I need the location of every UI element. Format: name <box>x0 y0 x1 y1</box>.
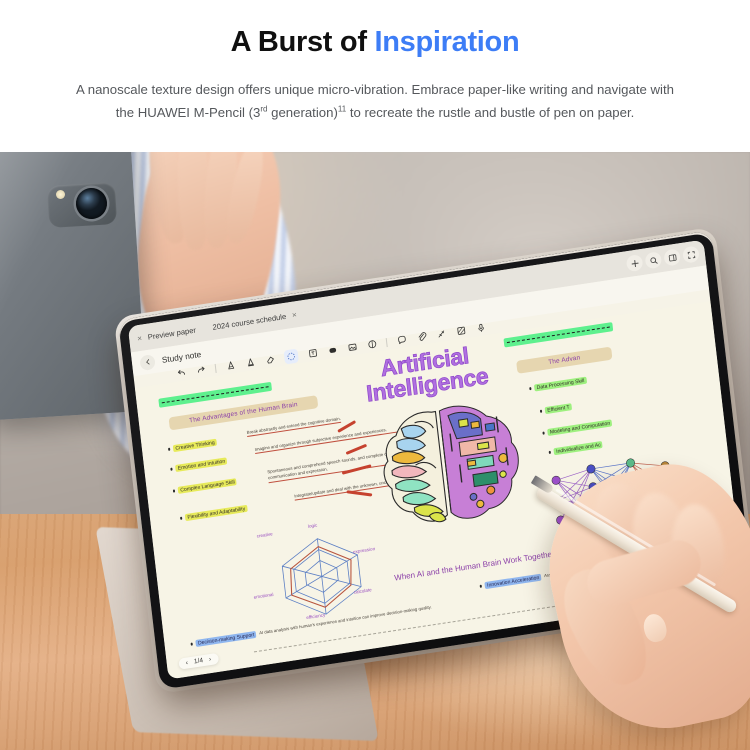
search-icon[interactable] <box>645 251 663 269</box>
bullet-dot <box>549 451 552 454</box>
attachment-icon[interactable] <box>415 331 427 344</box>
bullet-dot <box>168 448 171 451</box>
redo-icon[interactable] <box>195 364 207 377</box>
bullet-label: Emotion and Intuition <box>175 457 227 472</box>
bullet-label: Decision-making Support <box>196 631 257 647</box>
text-box-icon[interactable] <box>306 347 318 360</box>
bullet-dot <box>529 387 532 390</box>
laser-pointer-icon[interactable] <box>435 328 447 341</box>
list-item: Emotion and Intuition <box>170 457 227 473</box>
headline-plain: A Burst of <box>231 26 375 58</box>
bullet-dot <box>170 468 173 471</box>
close-icon[interactable]: × <box>291 310 297 320</box>
connector-arrow <box>346 490 372 496</box>
bullet-label: Innovation Acceleration <box>485 574 542 590</box>
bullet-label: Individualize and Ac <box>554 441 603 455</box>
lasso-select-icon[interactable] <box>284 349 299 365</box>
connector-arrow <box>346 444 367 455</box>
highlighter-icon[interactable] <box>244 356 256 369</box>
bullet-dot <box>191 643 194 646</box>
page-next-button[interactable]: › <box>209 656 212 663</box>
bullet-dot <box>480 585 483 588</box>
list-item: Efficient T <box>540 403 572 415</box>
toolbar-divider <box>386 338 388 347</box>
page-number: 1/4 <box>194 657 204 665</box>
page-template-icon[interactable] <box>455 325 467 338</box>
bullet-dot <box>173 490 176 493</box>
fullscreen-icon[interactable] <box>682 245 700 263</box>
split-screen-icon[interactable] <box>663 248 681 266</box>
bullet-label: Flexibility and Adaptability <box>185 505 247 521</box>
pen-icon[interactable] <box>224 359 236 372</box>
add-tab-icon[interactable] <box>626 254 644 272</box>
list-item: Data Processing Skill <box>529 377 587 393</box>
bullet-note: Break abstractly and extend the cognitiv… <box>246 416 341 438</box>
product-photo: × Preview paper 2024 course schedule × <box>0 152 750 750</box>
microphone-icon[interactable] <box>475 322 487 335</box>
list-item: Flexibility and Adaptability <box>180 505 248 522</box>
subcopy-line-1: A nanoscale texture design offers unique… <box>76 82 674 97</box>
bullet-dot <box>540 410 543 413</box>
bullet-dot <box>542 432 545 435</box>
list-item: Individualize and Ac <box>548 441 603 456</box>
list-item: Creative Thinking <box>168 439 217 453</box>
undo-icon[interactable] <box>175 367 187 380</box>
eraser-icon[interactable] <box>264 353 276 366</box>
sticker-icon[interactable] <box>366 338 378 351</box>
marketing-header: A Burst of Inspiration A nanoscale textu… <box>0 0 750 152</box>
bullet-dot <box>180 517 183 520</box>
page-indicator[interactable]: ‹ 1/4 › <box>178 653 218 670</box>
footnote-superscript: 11 <box>338 104 346 113</box>
section-header-right: The Advan <box>516 347 612 374</box>
bullet-label: Complex Language Skill <box>178 478 237 494</box>
shape-fill-icon[interactable] <box>326 344 338 357</box>
subcopy-line-2b: generation) <box>267 105 337 120</box>
brain-illustration <box>369 389 532 543</box>
page-prev-button[interactable]: ‹ <box>185 659 188 666</box>
list-item: Modeling and Computation <box>542 419 612 437</box>
subcopy-line-2a: the HUAWEI M-Pencil (3 <box>116 105 261 120</box>
tab-label: 2024 course schedule <box>212 311 287 331</box>
subcopy-line-2c: to recreate the rustle and bustle of pen… <box>346 105 634 120</box>
close-icon[interactable]: × <box>137 333 143 343</box>
page-subcopy: A nanoscale texture design offers unique… <box>30 79 720 124</box>
bullet-label: Modeling and Computation <box>548 419 613 436</box>
tab-label: Preview paper <box>147 325 196 341</box>
radar-label-logic: logic <box>308 523 318 529</box>
list-item: Complex Language Skill <box>173 478 237 495</box>
headline-accent: Inspiration <box>374 26 519 58</box>
bullet-label: Efficient T <box>545 403 572 414</box>
page-title: A Burst of Inspiration <box>231 26 520 59</box>
insert-image-icon[interactable] <box>346 341 358 354</box>
bullet-label: Data Processing Skill <box>534 377 586 392</box>
toolbar-divider <box>215 363 217 372</box>
comment-icon[interactable] <box>395 334 407 347</box>
bullet-label: Creative Thinking <box>173 439 217 453</box>
